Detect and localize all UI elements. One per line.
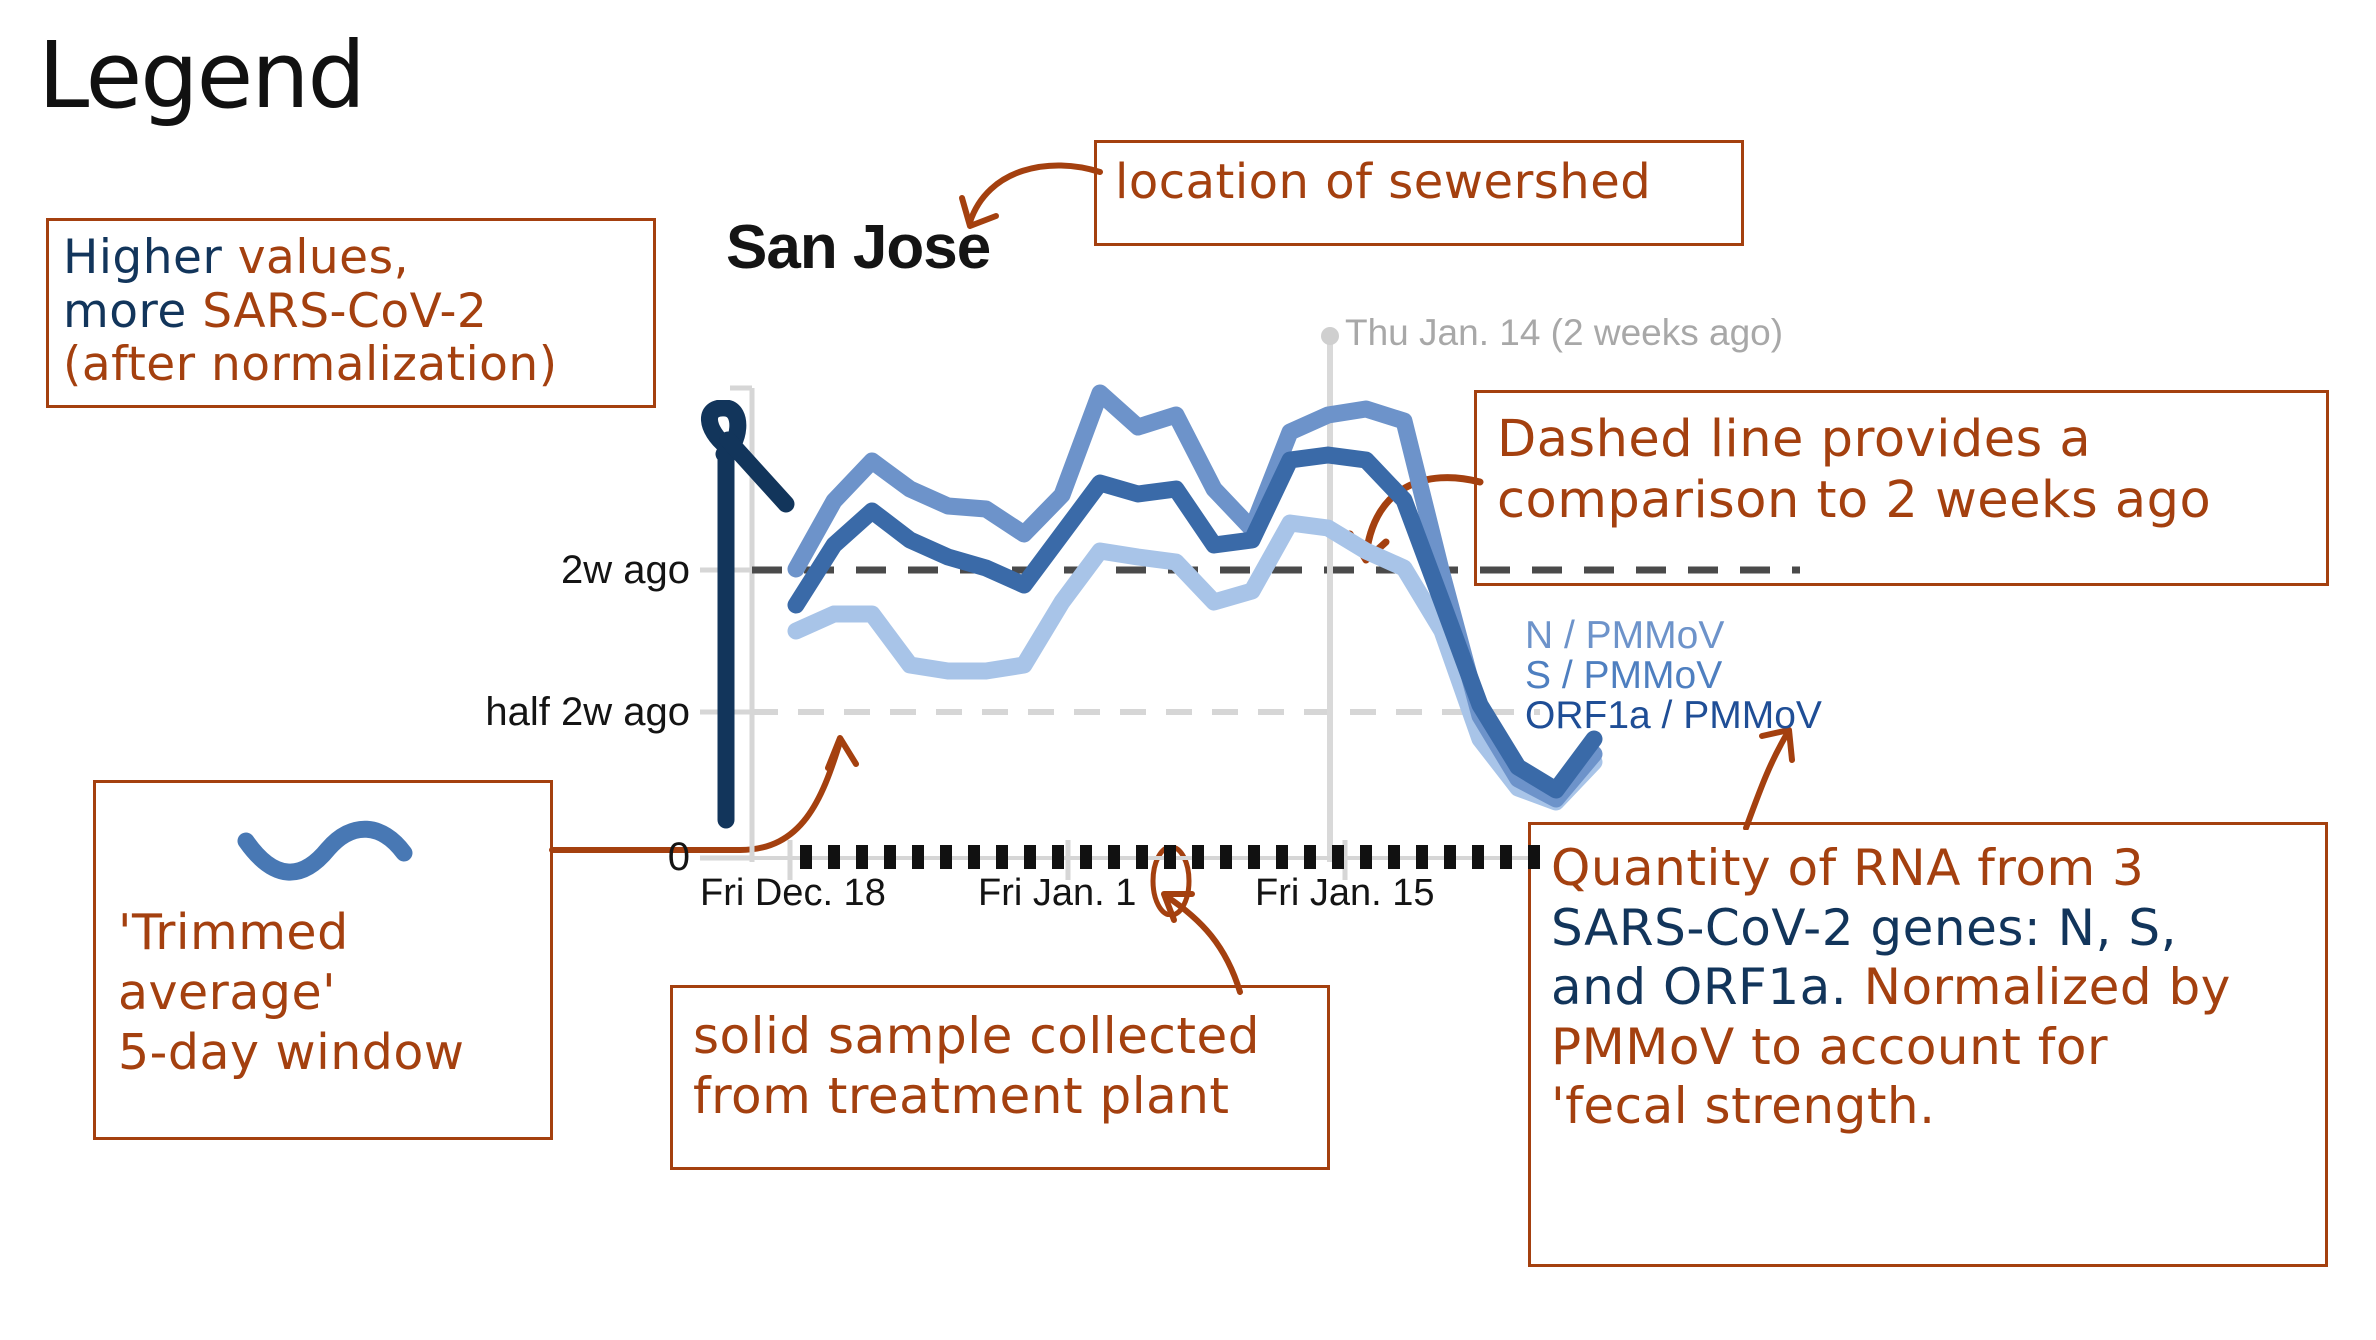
- legend-heading: Legend: [38, 22, 364, 129]
- ytick-half-2w-ago: half 2w ago: [400, 690, 690, 735]
- callout-trimmed-average: 'Trimmed average' 5-day window: [93, 780, 553, 1140]
- marker-label: Thu Jan. 14 (2 weeks ago): [1345, 312, 1783, 354]
- callout-sewershed-text: location of sewershed: [1097, 143, 1741, 222]
- callout-solid-sample: solid sample collected from treatment pl…: [670, 985, 1330, 1170]
- trimmed-average-line-sample-icon: [236, 819, 416, 889]
- legend-label-n-pmmov: N / PMMoV: [1525, 614, 1724, 658]
- xtick-jan-1: Fri Jan. 1: [978, 872, 1136, 915]
- xtick-dec-18: Fri Dec. 18: [700, 872, 886, 915]
- dashed-line-arrow-icon: [1330, 460, 1500, 590]
- higher-values-line3: (after normalization): [63, 337, 558, 392]
- ytick-2w-ago: 2w ago: [440, 548, 690, 593]
- higher-values-arrow-icon: [700, 400, 830, 830]
- callout-solid-sample-text: solid sample collected from treatment pl…: [673, 988, 1327, 1144]
- legend-label-orf1a-pmmov: ORF1a / PMMoV: [1525, 694, 1822, 738]
- callout-dashed-line: Dashed line provides a comparison to 2 w…: [1474, 390, 2329, 586]
- callout-dashed-line-text: Dashed line provides a comparison to 2 w…: [1477, 393, 2326, 547]
- xtick-jan-15: Fri Jan. 15: [1255, 872, 1435, 915]
- legend-label-s-pmmov: S / PMMoV: [1525, 654, 1722, 698]
- highlighted-sample-tick-icon: [1146, 845, 1196, 917]
- callout-higher-values-text: Higher values,more SARS-CoV-2(after norm…: [49, 221, 653, 402]
- callout-sewershed: location of sewershed: [1094, 140, 1744, 246]
- callout-rna-quantity: Quantity of RNA from 3SARS-CoV-2 genes: …: [1528, 822, 2328, 1267]
- higher-values-line2-blue: more: [63, 284, 202, 339]
- higher-values-line1-blue: Higher: [63, 230, 238, 285]
- rna-seg1: Quantity of RNA from 3: [1551, 839, 2144, 897]
- ytick-zero: 0: [560, 835, 690, 880]
- higher-values-line1-orange: values,: [238, 230, 409, 285]
- higher-values-line2-orange: SARS-CoV-2: [202, 284, 487, 339]
- callout-rna-quantity-text: Quantity of RNA from 3SARS-CoV-2 genes: …: [1531, 825, 2325, 1151]
- chart-title: San Jose: [726, 212, 990, 283]
- callout-higher-values: Higher values,more SARS-CoV-2(after norm…: [46, 218, 656, 408]
- marker-dot-thu-jan-14: [1321, 327, 1339, 345]
